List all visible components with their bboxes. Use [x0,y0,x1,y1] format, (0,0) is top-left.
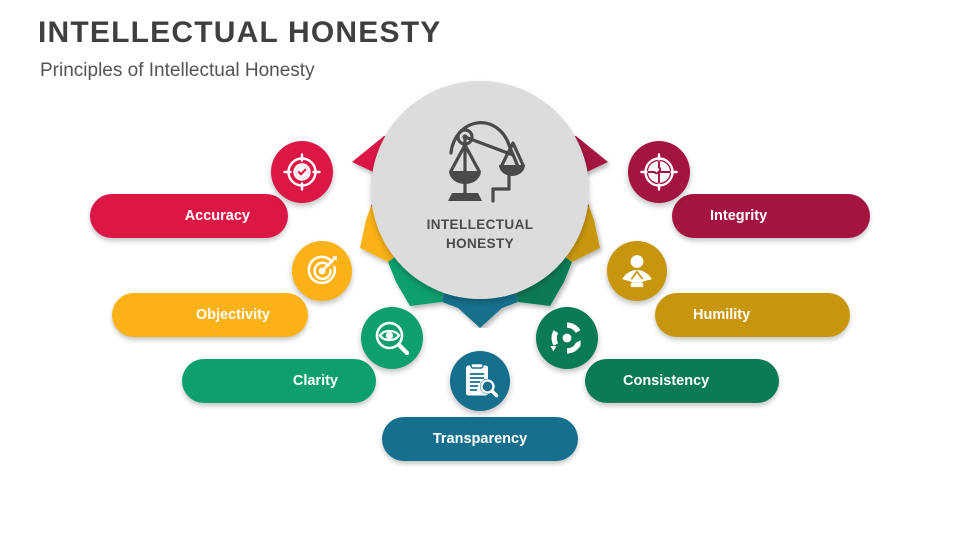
page-title: INTELLECTUAL HONESTY [38,16,441,50]
cycle-arrows-icon [547,318,587,358]
pill-humility[interactable]: Humility [655,293,850,337]
puzzle-target-icon [639,152,679,192]
eye-magnifier-icon [372,318,412,358]
slide-canvas: INTELLECTUAL HONESTY Principles of Intel… [0,0,960,540]
pill-label-humility: Humility [655,307,850,323]
meditating-person-icon [618,252,656,290]
icon-bubble-accuracy[interactable] [271,141,333,203]
pill-accuracy[interactable]: Accuracy [90,194,288,238]
hub-label-line1: INTELLECTUAL [427,217,534,232]
pill-objectivity[interactable]: Objectivity [112,293,308,337]
pill-label-accuracy: Accuracy [90,208,288,224]
target-check-icon [282,152,322,192]
icon-bubble-humility[interactable] [607,241,667,301]
document-magnifier-icon [461,362,499,400]
pill-label-integrity: Integrity [672,208,870,224]
pill-label-consistency: Consistency [585,373,779,389]
icon-bubble-transparency[interactable] [450,351,510,411]
pill-label-clarity: Clarity [182,373,376,389]
hub-label: INTELLECTUAL HONESTY [371,215,589,253]
pill-consistency[interactable]: Consistency [585,359,779,403]
icon-bubble-consistency[interactable] [536,307,598,369]
pill-transparency[interactable]: Transparency [382,417,578,461]
hub-label-line2: HONESTY [446,236,514,251]
icon-bubble-clarity[interactable] [361,307,423,369]
pill-label-objectivity: Objectivity [112,307,308,323]
head-balance-scales-icon [425,109,535,213]
center-hub: INTELLECTUAL HONESTY [371,81,589,299]
pill-clarity[interactable]: Clarity [182,359,376,403]
icon-bubble-objectivity[interactable] [292,241,352,301]
target-dart-icon [303,252,341,290]
pill-label-transparency: Transparency [382,431,578,447]
pill-integrity[interactable]: Integrity [672,194,870,238]
page-subtitle: Principles of Intellectual Honesty [40,60,315,82]
icon-bubble-integrity[interactable] [628,141,690,203]
